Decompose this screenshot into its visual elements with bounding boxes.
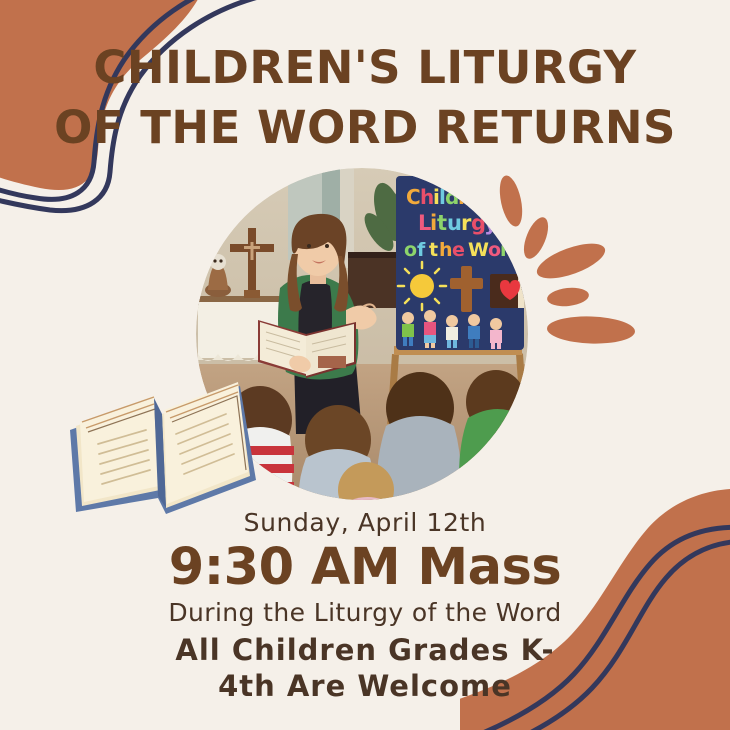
svg-text:r: r xyxy=(458,185,468,209)
svg-text:W: W xyxy=(468,239,489,261)
svg-text:u: u xyxy=(447,211,462,235)
event-date: Sunday, April 12th xyxy=(0,508,730,537)
event-details: Sunday, April 12th 9:30 AM Mass During t… xyxy=(0,508,730,704)
svg-text:t: t xyxy=(437,211,447,235)
event-time: 9:30 AM Mass xyxy=(0,539,730,597)
svg-text:o: o xyxy=(404,239,417,261)
svg-text:f: f xyxy=(417,239,426,261)
svg-text:y: y xyxy=(484,211,498,235)
event-grades-line-2: 4th Are Welcome xyxy=(218,669,512,703)
headline-line-2: OF THE WORD RETURNS xyxy=(0,98,730,158)
svg-text:e: e xyxy=(452,239,465,261)
svg-text:h: h xyxy=(439,239,453,261)
svg-text:n: n xyxy=(480,185,494,209)
svg-text:d: d xyxy=(509,239,523,261)
svg-text:t: t xyxy=(429,239,438,261)
event-grades: All Children Grades K- 4th Are Welcome xyxy=(0,633,730,704)
event-photo: C h i l d r e n L i t u xyxy=(196,168,528,500)
poster-headline: CHILDREN'S LITURGY OF THE WORD RETURNS xyxy=(0,38,730,158)
svg-text:e: e xyxy=(468,185,482,209)
headline-line-1: CHILDREN'S LITURGY xyxy=(93,41,636,94)
poster-canvas: CHILDREN'S LITURGY OF THE WORD RETURNS xyxy=(0,0,730,730)
event-during-note: During the Liturgy of the Word xyxy=(0,598,730,627)
event-grades-line-1: All Children Grades K- xyxy=(175,633,554,667)
svg-text:C: C xyxy=(406,185,421,209)
